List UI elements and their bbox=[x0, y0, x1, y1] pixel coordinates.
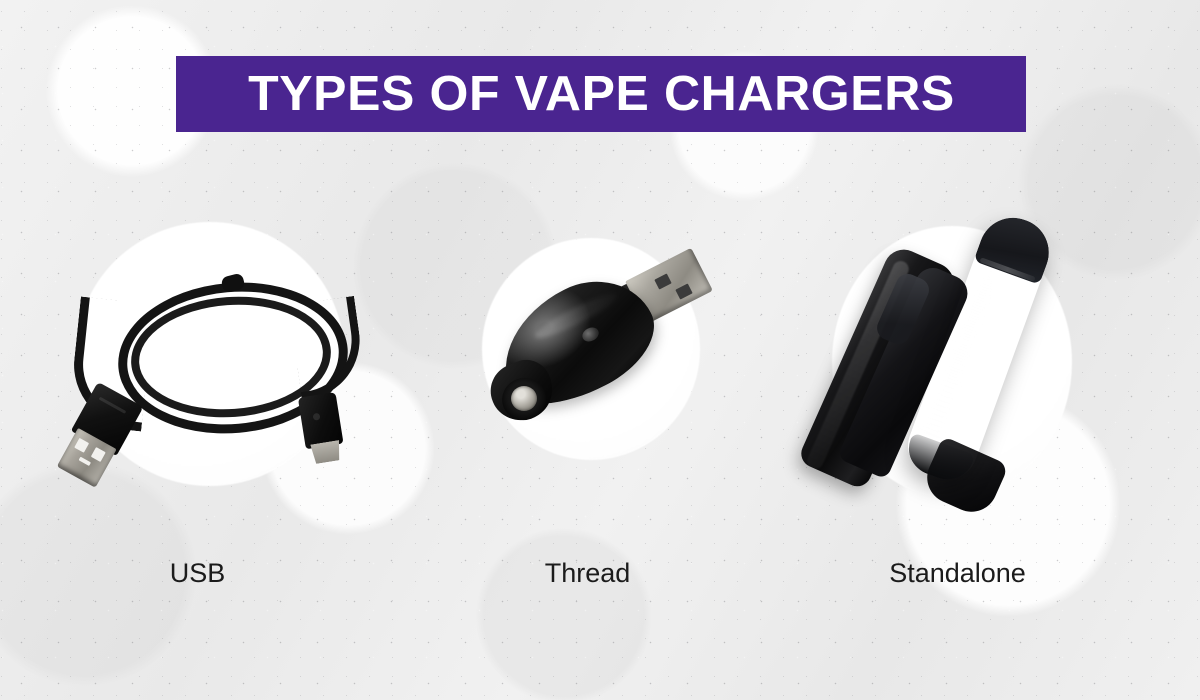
cable-run-right bbox=[289, 296, 368, 400]
standalone-charger-icon bbox=[820, 190, 1110, 520]
micro-usb-connector bbox=[294, 390, 358, 479]
usb-a-contact-pad bbox=[91, 447, 106, 462]
thread-charger-icon bbox=[486, 252, 722, 474]
thread-510-center-pin bbox=[511, 386, 537, 411]
page-title: TYPES OF VAPE CHARGERS bbox=[248, 66, 955, 122]
item-label-standalone: Standalone bbox=[860, 558, 1055, 589]
item-label-usb: USB bbox=[100, 558, 295, 589]
usb-a-contact-pad bbox=[74, 438, 89, 453]
title-banner: TYPES OF VAPE CHARGERS bbox=[176, 56, 1026, 132]
item-label-thread: Thread bbox=[490, 558, 685, 589]
usb-a-contact-pad bbox=[79, 457, 91, 466]
infographic-canvas: TYPES OF VAPE CHARGERS USB bbox=[0, 0, 1200, 700]
